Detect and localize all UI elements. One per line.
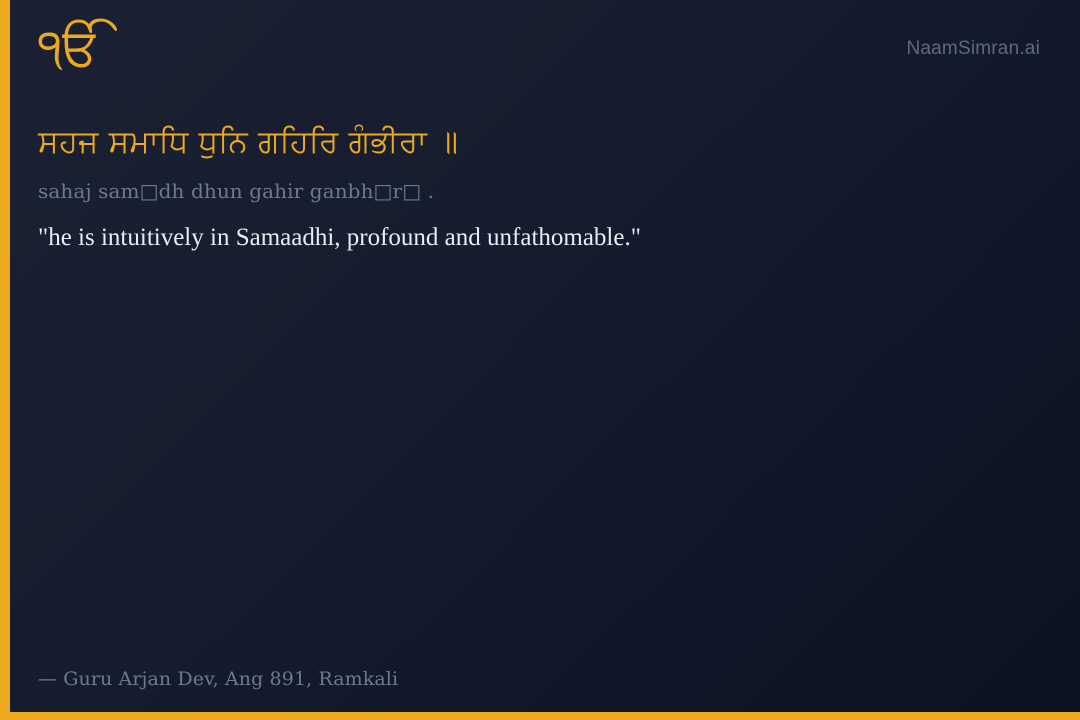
verse-block: ਸਹਜ ਸਮਾਧਿ ਧੁਨਿ ਗਹਿਰਿ ਗੰਭੀਰਾ ॥ sahaj sam□…	[38, 122, 968, 258]
translation-text: "he is intuitively in Samaadhi, profound…	[38, 218, 678, 258]
gurmukhi-verse-text: ਸਹਜ ਸਮਾਧਿ ਧੁਨਿ ਗਹਿਰਿ ਗੰਭੀਰਾ ॥	[38, 122, 968, 163]
card-header: ੴ NaamSimran.ai	[38, 22, 1040, 100]
scripture-quote-card: ੴ NaamSimran.ai ਸਹਜ ਸਮਾਧਿ ਧੁਨਿ ਗਹਿਰਿ ਗੰਭ…	[0, 0, 1080, 720]
card-content: ੴ NaamSimran.ai ਸਹਜ ਸਮਾਧਿ ਧੁਨਿ ਗਹਿਰਿ ਗੰਭ…	[0, 0, 1080, 720]
ik-onkar-icon: ੴ	[38, 22, 101, 74]
brand-logo: NaamSimran.ai	[906, 38, 1040, 60]
transliteration-text: sahaj sam□dh dhun gahir ganbh□r□ .	[38, 178, 968, 204]
attribution-text: — Guru Arjan Dev, Ang 891, Ramkali	[38, 667, 398, 692]
